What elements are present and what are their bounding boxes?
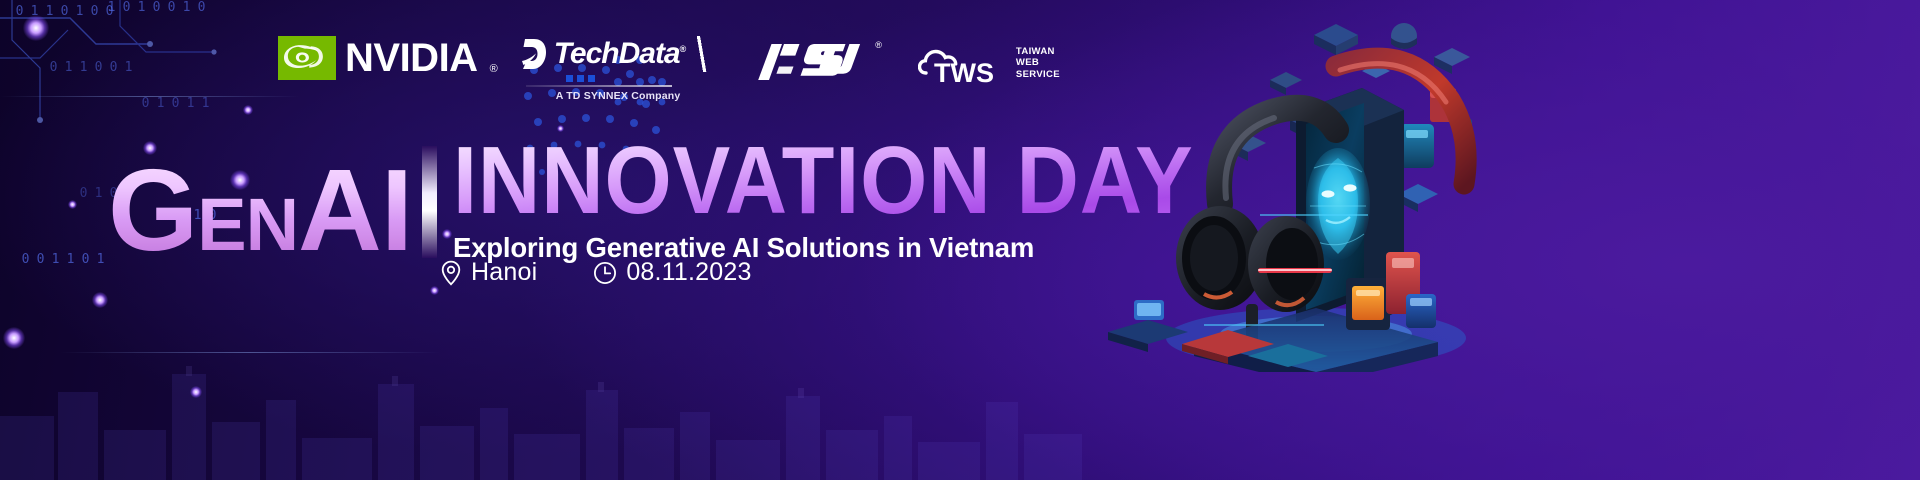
asus-wordmark — [757, 42, 873, 82]
event-meta-row: Hanoi 08.11.2023 — [440, 258, 752, 287]
event-banner: 0 0 1 0 1 1 01 0 0 1 1 00 1 0 0 1 0 11 1… — [0, 0, 1920, 480]
logo-asus[interactable]: ® — [757, 36, 882, 82]
light-streak — [60, 352, 440, 353]
event-location-label: Hanoi — [471, 258, 537, 287]
event-date: 08.11.2023 — [593, 258, 751, 287]
city-skyline-silhouette — [0, 330, 1100, 480]
headline-divider-bar — [422, 146, 437, 258]
event-location: Hanoi — [440, 258, 537, 287]
nvidia-wordmark: NVIDIA — [345, 38, 478, 78]
tws-tagline-line-1: TAIWAN — [1016, 46, 1060, 58]
asus-registered-mark: ® — [875, 40, 882, 50]
binary-code-column: 0 1 0 0 1 0 1 — [104, 0, 209, 16]
genai-isometric-tech-scene — [1100, 8, 1520, 372]
binary-code-column: 0 0 1 0 1 1 0 — [12, 4, 117, 20]
logo-tech-data[interactable]: TechData® A TD SYNNEX Company — [522, 36, 708, 102]
binary-code-column: 1 0 1 1 0 0 — [18, 252, 108, 268]
glow-dot — [190, 386, 202, 398]
glow-dot — [23, 15, 49, 41]
partner-logo-row: NVIDIA ® TechData® A TD SYNNEX Company — [278, 36, 1060, 96]
tech-data-tagline: A TD SYNNEX Company — [556, 90, 681, 102]
tech-data-lockup: TechData® — [522, 36, 708, 72]
tws-tagline: TAIWAN WEB SERVICE — [1016, 46, 1060, 81]
event-date-label: 08.11.2023 — [626, 258, 751, 287]
glow-dot — [430, 286, 439, 295]
glow-dot — [3, 327, 25, 349]
glow-dot — [68, 200, 77, 209]
genai-letter-g: G — [108, 145, 197, 275]
genai-brand-lockup: GENAI — [108, 157, 412, 264]
tech-data-registered-mark: ® — [680, 44, 686, 54]
tws-lockup: TWS — [918, 40, 1010, 86]
tws-wordmark: TWS — [934, 58, 994, 86]
tech-data-wordmark: TechData® — [554, 39, 686, 69]
event-title: INNOVATION DAY — [453, 140, 1194, 223]
logo-tws[interactable]: TWS TAIWAN WEB SERVICE — [918, 36, 1060, 86]
tech-data-dot-accent — [566, 75, 595, 82]
nvidia-eye-icon — [278, 36, 336, 80]
glow-dot — [243, 105, 253, 115]
location-pin-icon — [440, 260, 462, 286]
binary-code-column: 1 0 0 1 1 0 — [46, 60, 136, 76]
tech-data-slash-accent — [695, 36, 707, 72]
tws-tagline-line-3: SERVICE — [1016, 69, 1060, 81]
genai-letters-ai: AI — [298, 145, 412, 275]
nvidia-registered-mark: ® — [490, 63, 498, 80]
clock-icon — [593, 261, 617, 285]
genai-letters-en: EN — [197, 183, 298, 266]
glow-dot — [92, 292, 108, 308]
tech-data-divider — [526, 85, 672, 87]
tws-tagline-line-2: WEB — [1016, 57, 1060, 69]
logo-nvidia[interactable]: NVIDIA ® — [278, 36, 498, 80]
techdata-d-swoosh-icon — [522, 37, 548, 71]
light-streak — [0, 96, 300, 97]
binary-code-column: 1 1 0 1 0 — [138, 96, 213, 112]
